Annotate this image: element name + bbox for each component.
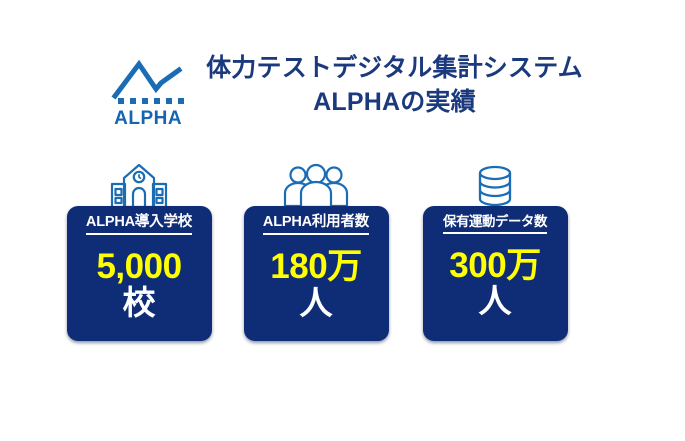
people-group-icon xyxy=(282,158,350,210)
page-title-line-1: 体力テストデジタル集計システム xyxy=(206,52,583,86)
stat-card-unit: 人 xyxy=(479,284,512,317)
header: ALPHA 体力テストデジタル集計システム ALPHAの実績 xyxy=(0,52,685,142)
stat-card-value: 5,000 xyxy=(96,249,181,285)
stat-card-heading: ALPHA利用者数 xyxy=(263,215,369,235)
stat-card-unit: 校 xyxy=(123,286,156,319)
brand-wordmark: ALPHA xyxy=(114,109,182,128)
stat-card-users: ALPHA利用者数 180万 人 xyxy=(240,158,392,341)
brand-logo: ALPHA xyxy=(102,56,194,128)
stat-card-list: ALPHA導入学校 5,000 校 ALPHA利用者数 180万 人 xyxy=(0,158,685,358)
stat-card: 保有運動データ数 300万 人 xyxy=(423,206,568,341)
stat-card-value: 180万 xyxy=(270,249,361,285)
stat-card-value: 300万 xyxy=(449,248,540,284)
mountain-chart-icon xyxy=(109,56,187,106)
stat-card-unit: 人 xyxy=(300,286,333,319)
stat-card-data: 保有運動データ数 300万 人 xyxy=(419,158,571,341)
school-building-icon xyxy=(109,158,169,210)
database-icon xyxy=(471,158,519,210)
page-title-line-2: ALPHAの実績 xyxy=(206,86,583,120)
stat-card: ALPHA利用者数 180万 人 xyxy=(244,206,389,341)
stat-card: ALPHA導入学校 5,000 校 xyxy=(67,206,212,341)
stat-card-heading: ALPHA導入学校 xyxy=(86,215,192,235)
page-title: 体力テストデジタル集計システム ALPHAの実績 xyxy=(206,52,583,119)
stat-card-heading: 保有運動データ数 xyxy=(443,215,547,234)
stat-card-schools: ALPHA導入学校 5,000 校 xyxy=(63,158,215,341)
